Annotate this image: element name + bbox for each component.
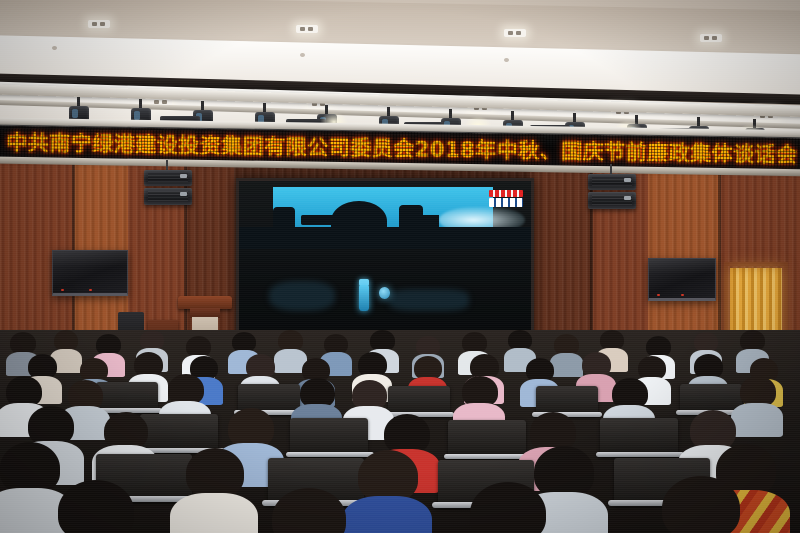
broadcast-watermark-logo	[489, 190, 523, 207]
auditorium-chair	[600, 418, 678, 456]
audience-seating-area	[0, 330, 800, 533]
chair-armrest	[596, 452, 684, 457]
line-array-speaker-right	[588, 174, 636, 210]
ceiling-downlight	[700, 34, 722, 42]
video-water-bottle	[359, 285, 369, 311]
auditorium-chair	[290, 418, 368, 456]
ceiling-downlight	[296, 25, 318, 33]
conference-hall-photo: 中共南宁绿港建设投资集团有限公司委员会2018年中秋、国庆节前廉政集体谈话会	[0, 0, 800, 533]
auditorium-chair	[140, 414, 218, 452]
line-array-speaker-left	[144, 170, 192, 206]
smoke-detector	[52, 46, 57, 50]
video-silhouette	[301, 215, 339, 225]
projection-screen-image	[239, 181, 531, 347]
smoke-detector	[300, 53, 305, 57]
video-faint-shape	[269, 281, 335, 311]
chair-armrest	[286, 452, 374, 457]
ceiling-downlight	[504, 29, 526, 37]
auditorium-chair	[448, 420, 526, 458]
ceiling-downlight	[88, 20, 110, 28]
projection-screen	[236, 178, 534, 350]
video-faint-shape	[389, 289, 469, 311]
video-glass-object	[379, 287, 390, 299]
wall-mounted-flat-tv-left	[52, 250, 128, 296]
smoke-detector	[504, 58, 509, 62]
video-silhouette	[239, 227, 531, 249]
wall-mounted-flat-tv-right	[648, 258, 716, 301]
